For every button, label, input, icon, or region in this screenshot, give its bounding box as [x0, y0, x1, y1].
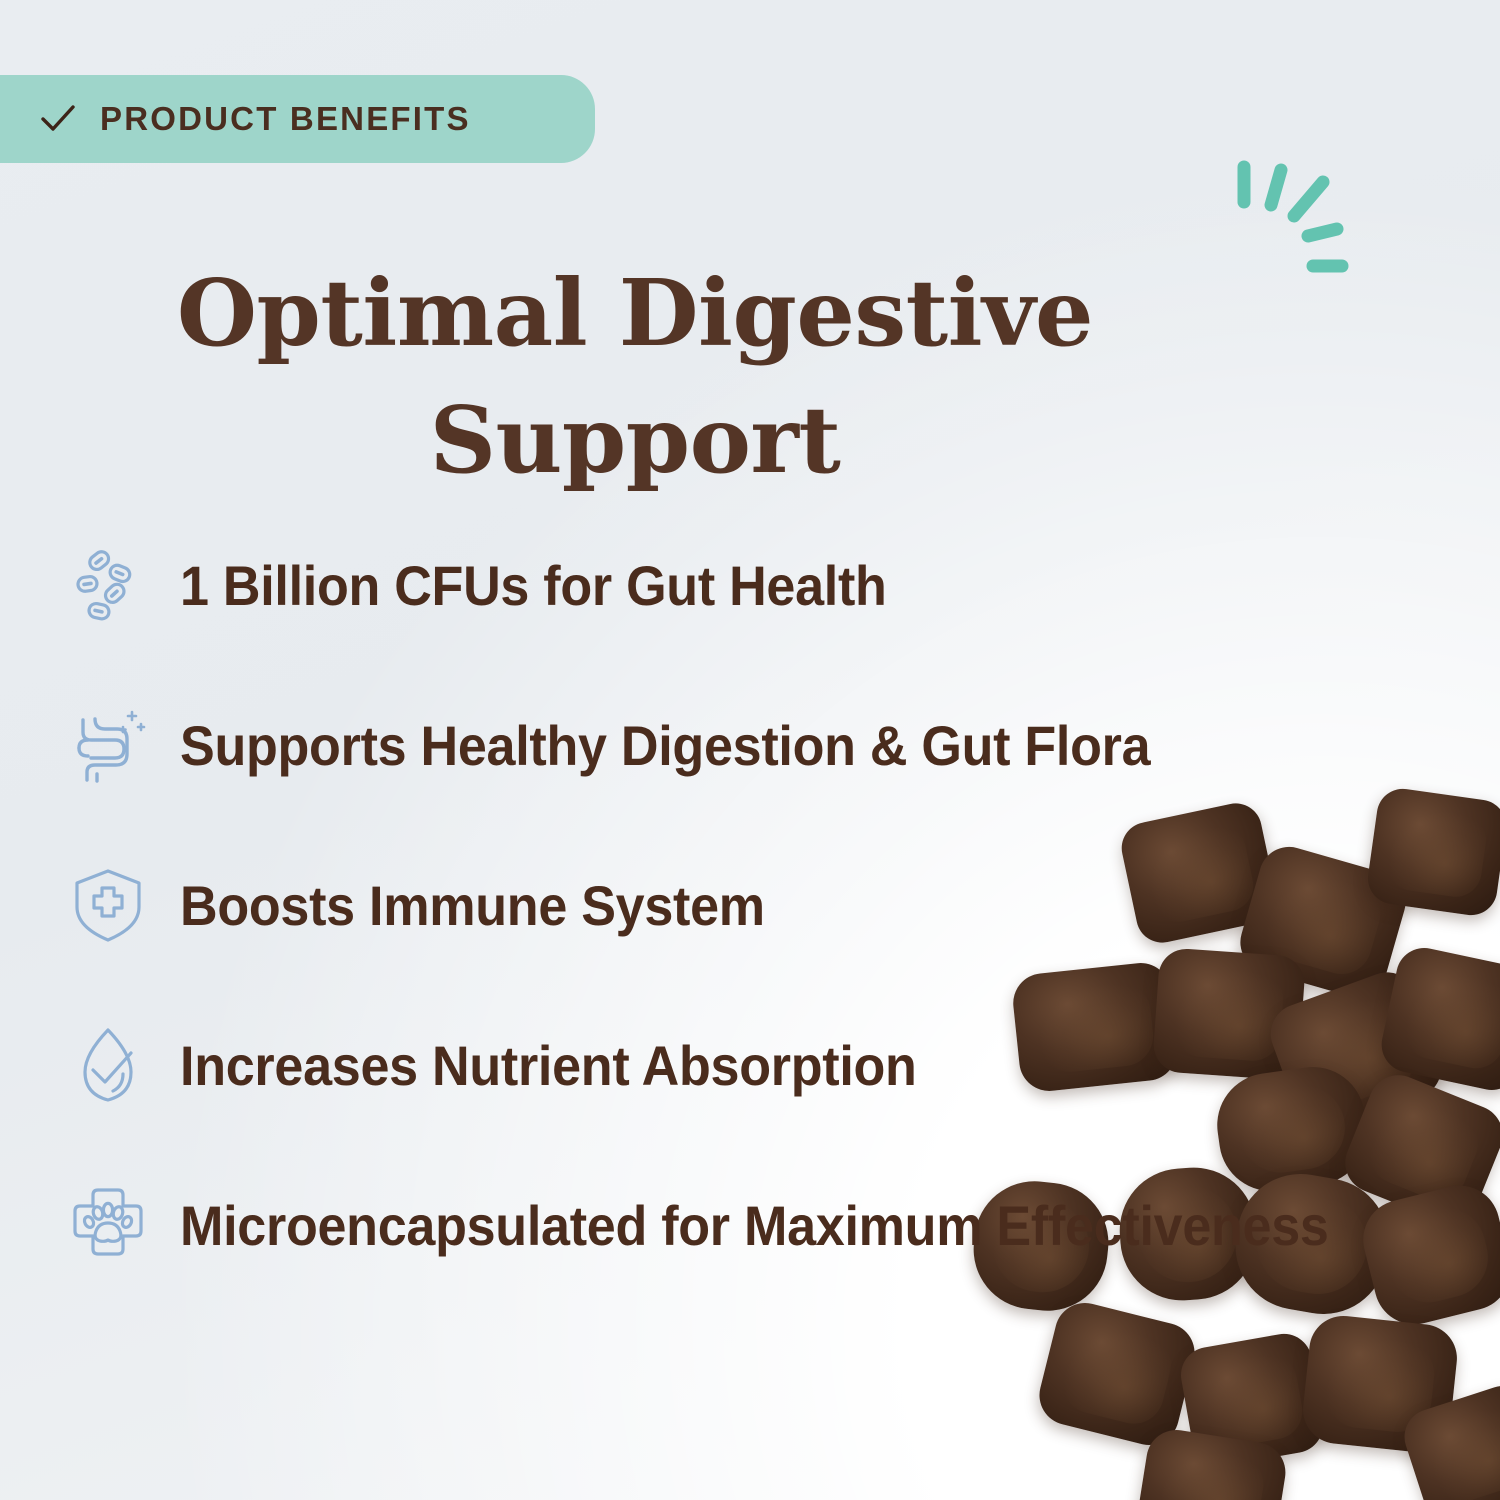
benefit-item-digestion: Supports Healthy Digestion & Gut Flora [0, 665, 1460, 825]
benefit-item-microencapsulated: Microencapsulated for Maximum Effectiven… [0, 1145, 1460, 1305]
benefit-item-cfus: 1 Billion CFUs for Gut Health [0, 505, 1460, 665]
product-benefits-infographic: PRODUCT BENEFITS Optimal Digestive Suppo… [0, 0, 1500, 1500]
benefit-label: Supports Healthy Digestion & Gut Flora [180, 713, 1150, 778]
page-title: Optimal Digestive Support [0, 250, 1270, 504]
shield-cross-icon [52, 862, 164, 948]
benefit-label: Microencapsulated for Maximum Effectiven… [180, 1193, 1329, 1258]
droplet-check-icon [52, 1022, 164, 1108]
product-benefits-badge: PRODUCT BENEFITS [0, 75, 595, 163]
benefit-label: Boosts Immune System [180, 873, 765, 938]
page-title-line-2: Support [0, 377, 1270, 504]
benefit-item-immune: Boosts Immune System [0, 825, 1460, 985]
badge-label: PRODUCT BENEFITS [100, 100, 471, 138]
benefits-list: 1 Billion CFUs for Gut Health [0, 505, 1460, 1305]
check-icon [38, 99, 78, 139]
benefit-label: 1 Billion CFUs for Gut Health [180, 553, 887, 618]
page-title-line-1: Optimal Digestive [177, 259, 1093, 367]
intestines-sparkle-icon [52, 702, 164, 788]
probiotic-bacteria-icon [52, 542, 164, 628]
benefit-item-absorption: Increases Nutrient Absorption [0, 985, 1460, 1145]
benefit-label: Increases Nutrient Absorption [180, 1033, 917, 1098]
paw-cross-icon [52, 1182, 164, 1268]
